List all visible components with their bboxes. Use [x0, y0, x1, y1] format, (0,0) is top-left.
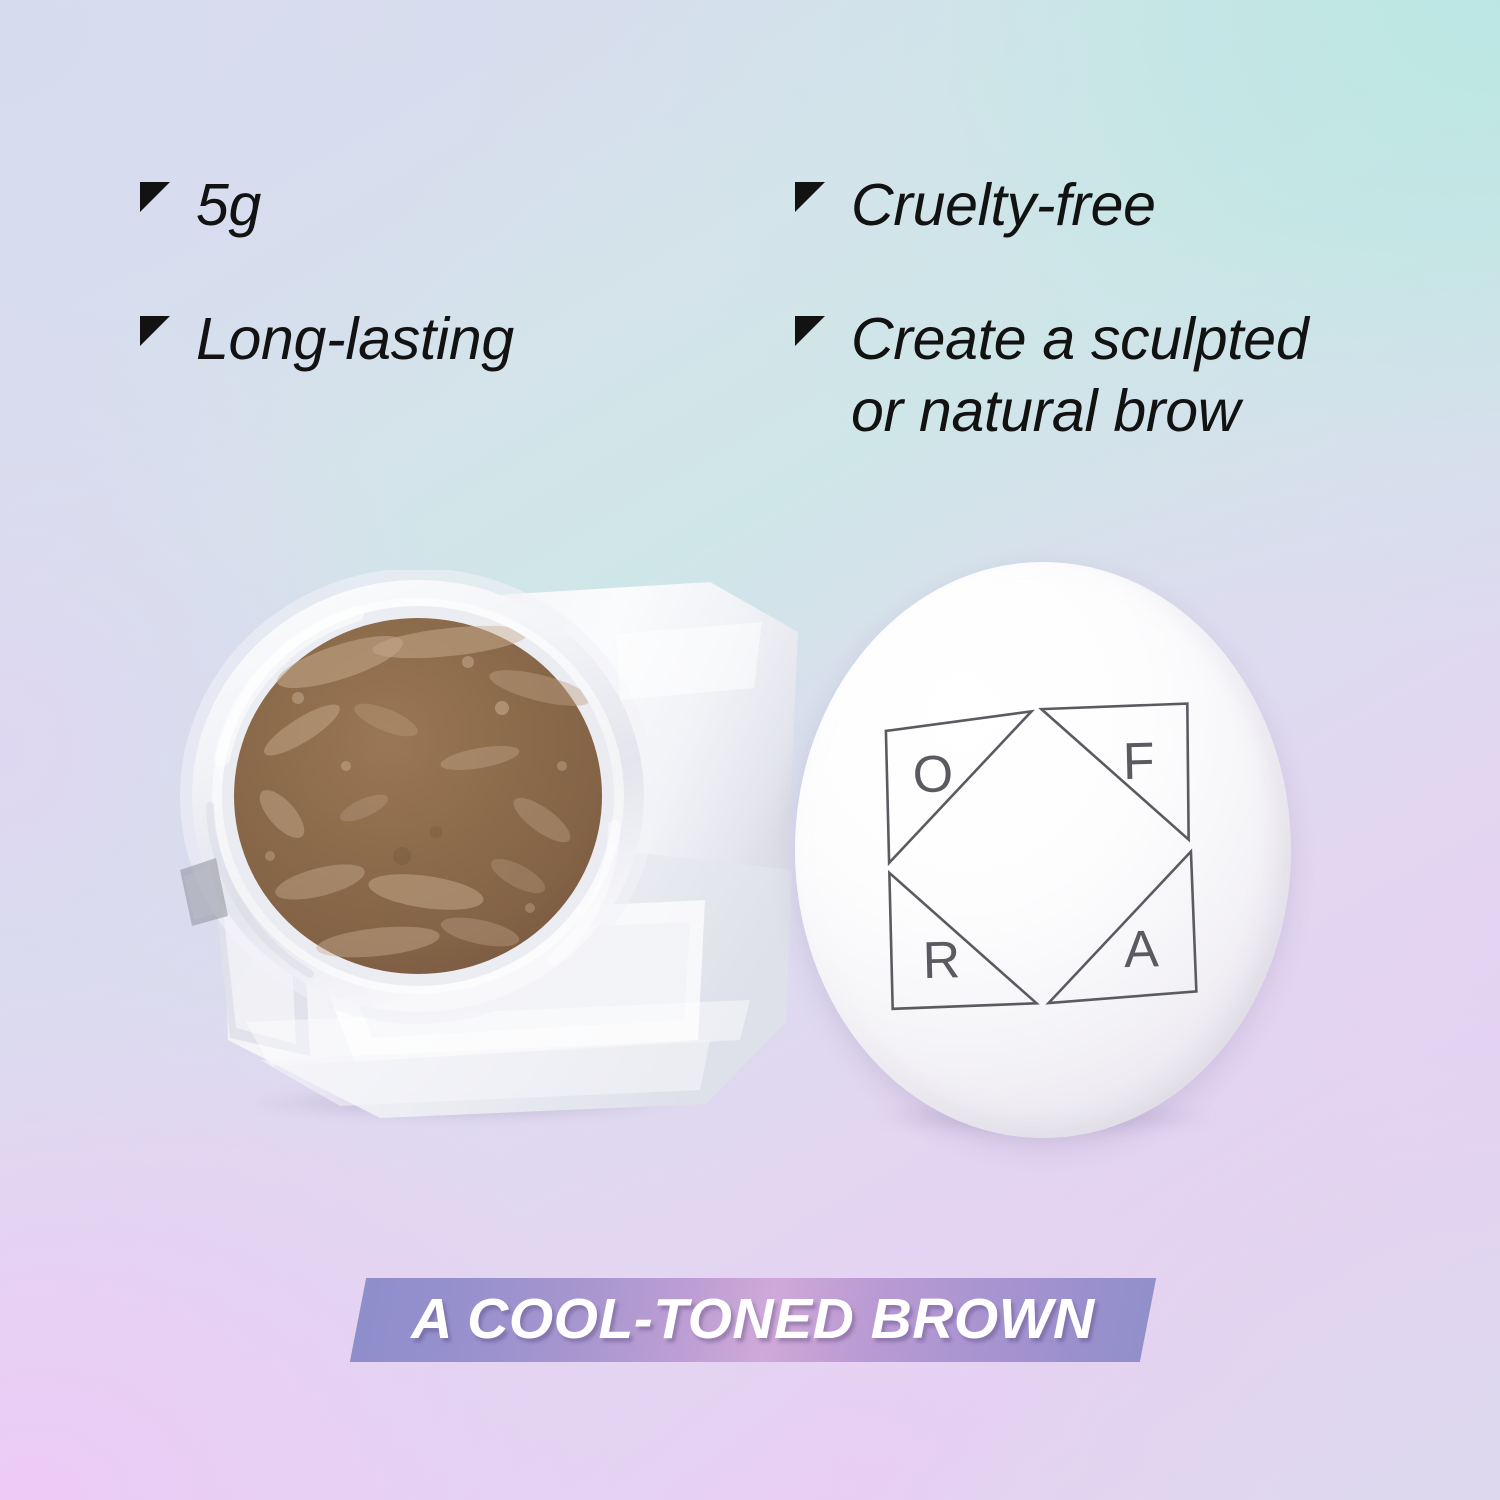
feature-item: Long-lasting: [140, 304, 700, 376]
feature-column-right: Cruelty-free Create a sculpted or natura…: [795, 170, 1375, 510]
product-marketing-image: 5g Long-lasting Cruelty-free: [0, 0, 1500, 1500]
triangle-bullet-icon: [795, 182, 829, 216]
triangle-bullet-icon: [140, 316, 174, 350]
logo-letter-a: A: [1123, 920, 1159, 979]
logo-letter-r: R: [922, 931, 961, 990]
white-round-lid: O F R A: [795, 562, 1291, 1138]
logo-letter-o: O: [912, 745, 954, 804]
logo-letter-f: F: [1122, 732, 1155, 791]
feature-label: 5g: [196, 170, 261, 242]
product-photo: O F R A: [0, 540, 1500, 1220]
feature-list: 5g Long-lasting Cruelty-free: [0, 0, 1500, 520]
ofra-logo: O F R A: [879, 699, 1206, 1013]
triangle-bullet-icon: [795, 316, 829, 350]
feature-item: Cruelty-free: [795, 170, 1375, 242]
shade-name-banner: A COOL-TONED BROWN: [358, 1278, 1148, 1362]
banner-label: A COOL-TONED BROWN: [358, 1278, 1148, 1362]
feature-column-left: 5g Long-lasting: [140, 170, 700, 438]
feature-item: 5g: [140, 170, 700, 242]
clear-glass-jar: [150, 570, 850, 1150]
feature-label: Cruelty-free: [851, 170, 1156, 242]
triangle-bullet-icon: [140, 182, 174, 216]
feature-item: Create a sculpted or natural brow: [795, 304, 1375, 448]
feature-label: Long-lasting: [196, 304, 514, 376]
feature-label: Create a sculpted or natural brow: [851, 304, 1308, 448]
